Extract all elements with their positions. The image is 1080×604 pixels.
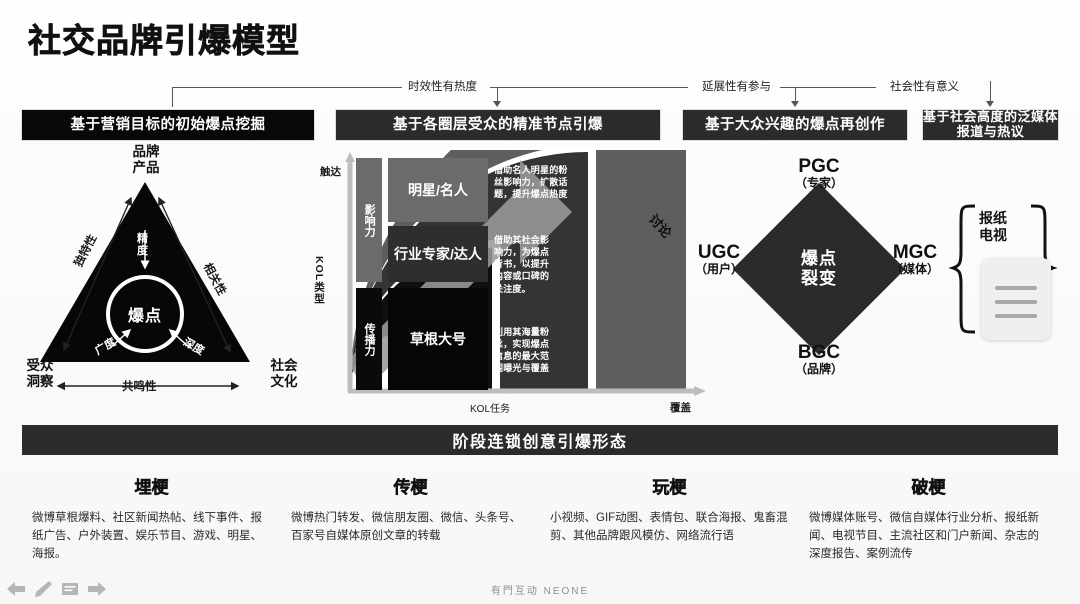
bottom-column-3-body: 微博媒体账号、微信自媒体行业分析、报纸新闻、电视节目、主流社区和门户新闻、杂志的… (809, 510, 1048, 563)
media-card-line-3 (995, 314, 1037, 318)
triangle-vertex-left: 受众 洞察 (14, 358, 66, 389)
bottom-column-2-body: 小视频、GIF动图、表情包、联合海报、鬼畜混剪、其他品牌跟风模仿、网络流行语 (550, 510, 789, 546)
kol-chart: 触达 KOL类型 KOL任务 覆盖 讨论 影响力 明星/名人 借助名人明星的粉丝… (318, 150, 710, 416)
kol-desc-0: 借助名人明星的粉丝影响力，扩散话题，提升爆点热度 (494, 164, 568, 200)
chain-banner[interactable]: 阶段连锁创意引爆形态 (22, 425, 1058, 455)
triangle-center-circle: 爆点 (106, 275, 184, 353)
diamond-diagram: 爆点 裂变 PGC （专家） UGC （用户） MGC （媒体） BGC （品牌… (700, 150, 940, 416)
triangle-vertex-right-line2: 文化 (271, 374, 298, 389)
triangle-diagram: 品牌 产品 受众 洞察 社会 文化 精度 广度 深度 独特性 相关性 共鸣性 爆… (18, 150, 318, 415)
triangle-vertex-top-line1: 品牌 (133, 144, 160, 159)
kol-power-0-label: 影响力 (363, 204, 375, 237)
stage-bar-0[interactable]: 基于营销目标的初始爆点挖掘 (22, 110, 314, 140)
kol-x-axis-right-label: 覆盖 (670, 400, 691, 415)
diamond-label-top-title: PGC (770, 156, 868, 177)
connector-label-1: 延展性有参与 (702, 78, 771, 94)
bottom-column-1-title: 传梗 (291, 473, 530, 498)
kol-type-1-label: 行业专家/达人 (394, 244, 482, 264)
media-label: 报纸 电视 (979, 210, 1007, 244)
bottom-column-0: 埋梗 微博草根爆料、社区新闻热帖、线下事件、报纸广告、户外装置、娱乐节目、游戏、… (22, 465, 281, 575)
chain-banner-label: 阶段连锁创意引爆形态 (452, 428, 627, 452)
stage-bar-2-label: 基于大众兴趣的爆点再创作 (705, 117, 885, 133)
media-card[interactable] (981, 258, 1051, 340)
diamond-label-left[interactable]: UGC （用户） (680, 242, 758, 277)
connector-arrow-2 (791, 101, 799, 107)
media-card-line-1 (995, 286, 1037, 290)
triangle-vertex-right-line1: 社会 (271, 358, 298, 373)
media-bracket-block: 报纸 电视 (945, 200, 1065, 345)
connector-arrow-3 (986, 101, 994, 107)
bottom-column-2-title: 玩梗 (550, 473, 789, 498)
kol-type-1[interactable]: 行业专家/达人 (388, 226, 488, 282)
diamond-center-line2: 裂变 (801, 269, 837, 289)
stage-bar-2[interactable]: 基于大众兴趣的爆点再创作 (683, 110, 907, 140)
forward-arrow-icon[interactable] (87, 580, 107, 598)
connector-stem-0 (172, 87, 173, 107)
triangle-vertex-right: 社会 文化 (258, 358, 310, 389)
connector-label-2: 社会性有意义 (890, 78, 959, 94)
kol-type-0-label: 明星/名人 (408, 180, 468, 200)
bottom-column-1-body: 微博热门转发、微信朋友圈、微信、头条号、百家号自媒体原创文章的转载 (291, 510, 530, 546)
bottom-column-2: 玩梗 小视频、GIF动图、表情包、联合海报、鬼畜混剪、其他品牌跟风模仿、网络流行… (540, 465, 799, 575)
kol-y-axis-top-label: 触达 (320, 164, 341, 179)
diamond-label-left-title: UGC (680, 242, 758, 263)
stage-bar-3[interactable]: 基于社会高度的泛媒体报道与热议 (923, 110, 1058, 140)
triangle-vertex-left-line1: 受众 (27, 358, 54, 373)
diamond-label-top-sub: （专家） (770, 177, 868, 190)
stage-bar-1-label: 基于各圈层受众的精准节点引爆 (393, 117, 603, 133)
back-arrow-icon[interactable] (6, 580, 26, 598)
diamond-label-right[interactable]: MGC （媒体） (876, 242, 954, 277)
kol-type-2-label: 草根大号 (410, 329, 466, 349)
connector-line-0a (172, 87, 402, 88)
triangle-edge-bottom: 共鸣性 (122, 378, 157, 394)
diamond-center-line1: 爆点 (801, 249, 837, 269)
diamond-label-right-sub: （媒体） (876, 263, 954, 276)
media-label-line2: 电视 (979, 227, 1007, 243)
stage-bar-3-label: 基于社会高度的泛媒体报道与热议 (923, 110, 1058, 139)
kol-desc-2: 利用其海量粉丝，实现爆点信息的最大范围曝光与覆盖 (494, 326, 554, 375)
footer-logo: 有門互动 NEONE (0, 582, 1080, 597)
connector-arrow-1 (493, 101, 501, 107)
diamond-label-bottom[interactable]: BGC （品牌） (770, 342, 868, 377)
diamond-label-bottom-title: BGC (770, 342, 868, 363)
stage-bar-0-label: 基于营销目标的初始爆点挖掘 (71, 117, 266, 133)
bottom-column-1: 传梗 微博热门转发、微信朋友圈、微信、头条号、百家号自媒体原创文章的转载 (281, 465, 540, 575)
diamond-label-top[interactable]: PGC （专家） (770, 156, 868, 191)
bottom-column-3: 破梗 微博媒体账号、微信自媒体行业分析、报纸新闻、电视节目、主流社区和门户新闻、… (799, 465, 1058, 575)
bottom-column-3-title: 破梗 (809, 473, 1048, 498)
kol-power-1: 传播力 (356, 288, 382, 390)
bottom-column-0-body: 微博草根爆料、社区新闻热帖、线下事件、报纸广告、户外装置、娱乐节目、游戏、明星、… (32, 510, 271, 563)
triangle-center-label: 爆点 (128, 302, 162, 326)
diamond-label-left-sub: （用户） (680, 263, 758, 276)
bottom-column-0-title: 埋梗 (32, 473, 271, 498)
kol-x-axis-label: KOL任务 (470, 400, 510, 415)
stage-bar-1[interactable]: 基于各圈层受众的精准节点引爆 (336, 110, 660, 140)
kol-power-0: 影响力 (356, 158, 382, 282)
kol-y-axis-label: KOL类型 (312, 256, 327, 304)
connector-line-0b (490, 87, 688, 88)
diamond-center: 爆点 裂变 (758, 208, 880, 330)
footer-nav (6, 580, 107, 598)
kol-type-2[interactable]: 草根大号 (388, 288, 488, 390)
notes-icon[interactable] (60, 580, 80, 598)
triangle-vertex-top: 品牌 产品 (118, 144, 174, 175)
kol-power-1-label: 传播力 (363, 323, 375, 356)
connector-row: 时效性有热度 延展性有参与 社会性有意义 (0, 78, 1080, 104)
connector-label-0: 时效性有热度 (408, 78, 477, 94)
pencil-icon[interactable] (33, 580, 53, 598)
media-label-line1: 报纸 (979, 210, 1007, 226)
triangle-inner-top: 精度 (137, 234, 151, 257)
diamond-label-right-title: MGC (876, 242, 954, 263)
media-card-line-2 (995, 300, 1037, 304)
page-title: 社交品牌引爆模型 (28, 14, 300, 62)
kol-type-0[interactable]: 明星/名人 (388, 158, 488, 222)
triangle-vertex-top-line2: 产品 (133, 160, 160, 175)
kol-desc-1: 借助其社会影响力，为爆点背书，以提升内容或口碑的关注度。 (494, 234, 558, 295)
diamond-label-bottom-sub: （品牌） (770, 363, 868, 376)
bottom-columns: 埋梗 微博草根爆料、社区新闻热帖、线下事件、报纸广告、户外装置、娱乐节目、游戏、… (22, 465, 1058, 575)
triangle-vertex-left-line2: 洞察 (27, 374, 54, 389)
